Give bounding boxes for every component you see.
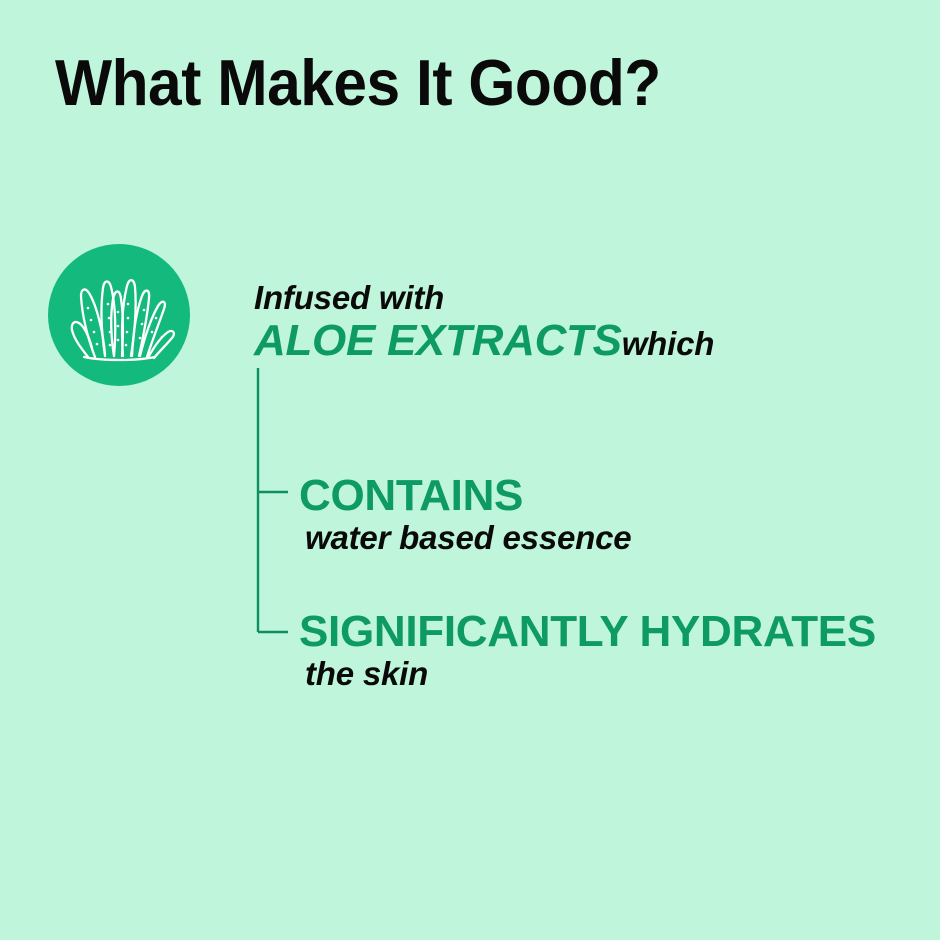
benefit-item-aloe: Infused with ALOE EXTRACTSwhich <box>254 280 714 365</box>
benefit-item-hydrates: SIGNIFICANTLY HYDRATES the skin <box>299 608 876 693</box>
page-title: What Makes It Good? <box>55 50 661 115</box>
benefit-tail-text: which <box>622 325 715 362</box>
infographic-canvas: What Makes It Good? <box>0 0 940 940</box>
benefit-emphasis-text: CONTAINS <box>299 471 523 520</box>
benefit-sub-text: the skin <box>305 656 876 693</box>
benefit-emphasis-text: SIGNIFICANTLY HYDRATES <box>299 607 876 656</box>
benefit-emphasis-row: SIGNIFICANTLY HYDRATES <box>299 608 876 656</box>
aloe-plant-icon <box>48 244 190 386</box>
benefit-emphasis-row: ALOE EXTRACTSwhich <box>254 317 714 365</box>
benefit-item-contains: CONTAINS water based essence <box>299 472 631 557</box>
benefit-emphasis-row: CONTAINS <box>299 472 631 520</box>
benefit-sub-text: water based essence <box>305 520 631 557</box>
benefit-lead-text: Infused with <box>254 280 714 317</box>
aloe-badge <box>48 244 190 386</box>
benefit-emphasis-text: ALOE EXTRACTS <box>254 316 622 365</box>
